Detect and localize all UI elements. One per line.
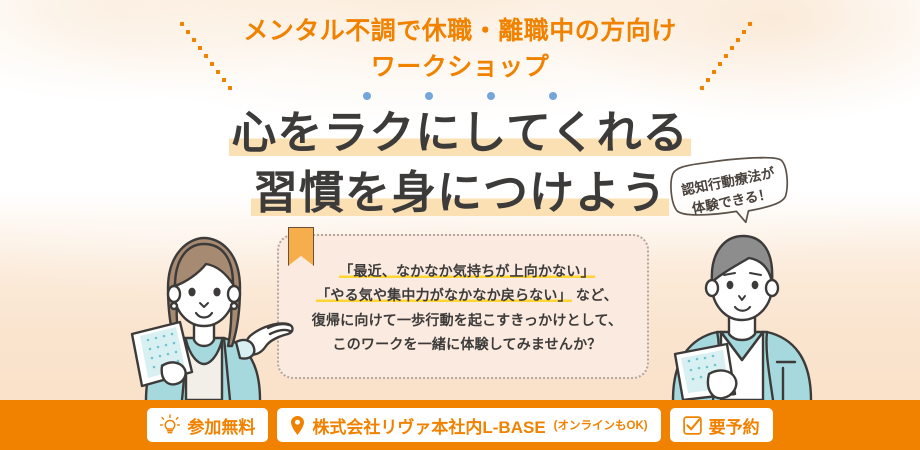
woman-illustration [128, 230, 296, 400]
blue-dot-divider [0, 92, 920, 100]
footer-bar: 参加無料 株式会社リヴァ本社内L-BASE (オンラインもOK) 要予約 [0, 400, 920, 450]
venue-note: (オンラインもOK) [554, 417, 648, 433]
message-line-4: このワークを一緒に体験してみませんか？ [333, 332, 602, 356]
checkbox-check-icon [683, 416, 702, 435]
free-admission-pill[interactable]: 参加無料 [147, 408, 268, 442]
reservation-label: 要予約 [709, 413, 760, 438]
workshop-banner: メンタル不調で休職・離職中の方向け ワークショップ 心をラクにしてくれる 習慣を… [0, 0, 920, 450]
blue-dot [549, 92, 557, 100]
blue-dot [425, 92, 433, 100]
venue-pill[interactable]: 株式会社リヴァ本社内L-BASE (オンラインもOK) [277, 408, 660, 442]
free-admission-label: 参加無料 [187, 413, 255, 438]
man-illustration [655, 228, 833, 400]
message-text: 「最近、なかなか気持ちが上向かない」 「やる気や集中力がなかなか戻らない」 など… [279, 236, 647, 377]
message-line-2: 「やる気や集中力がなかなか戻らない」 など、 [316, 283, 618, 307]
subtitle: メンタル不調で休職・離職中の方向け ワークショップ [0, 14, 920, 85]
lightbulb-icon [160, 414, 180, 436]
map-pin-icon [290, 415, 305, 436]
message-line-1: 「最近、なかなか気持ちが上向かない」 [339, 259, 595, 283]
reservation-pill[interactable]: 要予約 [670, 408, 773, 442]
message-box: 「最近、なかなか気持ちが上向かない」 「やる気や集中力がなかなか戻らない」 など… [277, 234, 649, 379]
subtitle-line-2: ワークショップ [0, 50, 920, 86]
venue-label: 株式会社リヴァ本社内L-BASE [312, 413, 545, 438]
subtitle-line-1: メンタル不調で休職・離職中の方向け [243, 17, 677, 45]
blue-dot [363, 92, 371, 100]
message-line-3: 復帰に向けて一歩行動を起こすきっかけとして、 [312, 308, 622, 332]
blue-dot [487, 92, 495, 100]
